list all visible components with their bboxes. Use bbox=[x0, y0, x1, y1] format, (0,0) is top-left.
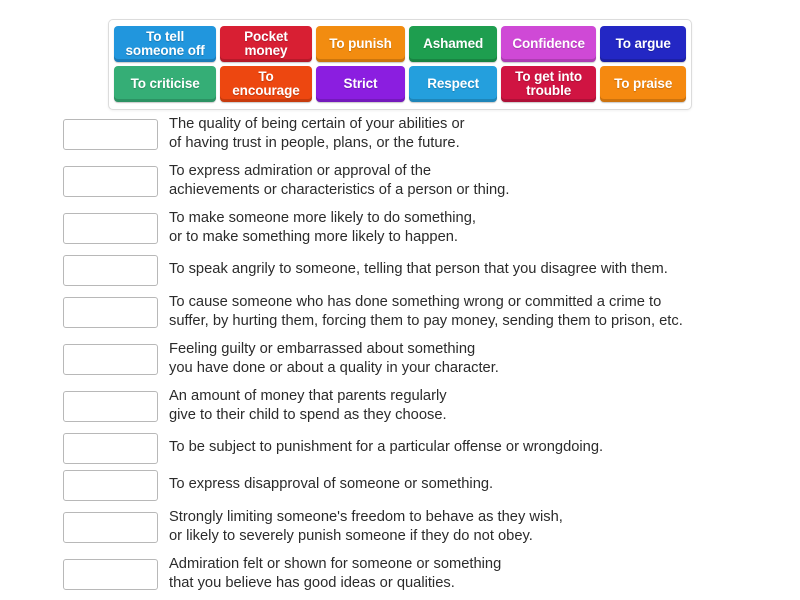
definition-row: An amount of money that parents regularl… bbox=[63, 385, 793, 427]
answer-drop-box[interactable] bbox=[63, 213, 158, 244]
word-tile-strict[interactable]: Strict bbox=[316, 66, 406, 102]
definition-text: To speak angrily to someone, telling tha… bbox=[169, 260, 793, 280]
word-tile-bank: To tell someone off Pocket money To puni… bbox=[108, 19, 692, 110]
answer-drop-box[interactable] bbox=[63, 344, 158, 375]
answer-drop-box[interactable] bbox=[63, 470, 158, 501]
definition-row: To express disapproval of someone or som… bbox=[63, 469, 793, 501]
definition-text: To make someone more likely to do someth… bbox=[169, 209, 793, 248]
definition-text: Feeling guilty or embarrassed about some… bbox=[169, 340, 793, 379]
tile-row-1: To tell someone off Pocket money To puni… bbox=[114, 26, 686, 62]
word-tile-to-criticise[interactable]: To criticise bbox=[114, 66, 216, 102]
word-tile-to-praise[interactable]: To praise bbox=[600, 66, 686, 102]
definition-row: Feeling guilty or embarrassed about some… bbox=[63, 338, 793, 380]
definition-text: The quality of being certain of your abi… bbox=[169, 115, 793, 154]
word-tile-pocket-money[interactable]: Pocket money bbox=[220, 26, 312, 62]
definition-text: An amount of money that parents regularl… bbox=[169, 387, 793, 426]
answer-drop-box[interactable] bbox=[63, 119, 158, 150]
word-tile-to-encourage[interactable]: To encourage bbox=[220, 66, 312, 102]
word-tile-to-get-into-trouble[interactable]: To get into trouble bbox=[501, 66, 596, 102]
definition-text: Admiration felt or shown for someone or … bbox=[169, 555, 793, 594]
definition-row: Strongly limiting someone's freedom to b… bbox=[63, 506, 793, 548]
answer-drop-box[interactable] bbox=[63, 559, 158, 590]
word-tile-to-tell-someone-off[interactable]: To tell someone off bbox=[114, 26, 216, 62]
word-tile-to-argue[interactable]: To argue bbox=[600, 26, 686, 62]
definition-row: To make someone more likely to do someth… bbox=[63, 207, 793, 249]
definition-text: To express admiration or approval of the… bbox=[169, 162, 793, 201]
definition-row: Admiration felt or shown for someone or … bbox=[63, 553, 793, 595]
answer-drop-box[interactable] bbox=[63, 255, 158, 286]
answer-drop-box[interactable] bbox=[63, 512, 158, 543]
definition-text: To express disapproval of someone or som… bbox=[169, 475, 793, 495]
definition-list: The quality of being certain of your abi… bbox=[63, 113, 793, 600]
answer-drop-box[interactable] bbox=[63, 297, 158, 328]
definition-text: Strongly limiting someone's freedom to b… bbox=[169, 508, 793, 547]
word-tile-ashamed[interactable]: Ashamed bbox=[409, 26, 497, 62]
definition-row: To be subject to punishment for a partic… bbox=[63, 432, 793, 464]
word-tile-confidence[interactable]: Confidence bbox=[501, 26, 596, 62]
definition-text: To be subject to punishment for a partic… bbox=[169, 438, 793, 458]
word-tile-respect[interactable]: Respect bbox=[409, 66, 497, 102]
answer-drop-box[interactable] bbox=[63, 166, 158, 197]
definition-text: To cause someone who has done something … bbox=[169, 293, 793, 332]
answer-drop-box[interactable] bbox=[63, 391, 158, 422]
definition-row: To speak angrily to someone, telling tha… bbox=[63, 254, 793, 286]
tile-row-2: To criticise To encourage Strict Respect… bbox=[114, 66, 686, 102]
definition-row: To express admiration or approval of the… bbox=[63, 160, 793, 202]
activity-canvas: To tell someone off Pocket money To puni… bbox=[0, 0, 800, 600]
definition-row: To cause someone who has done something … bbox=[63, 291, 793, 333]
answer-drop-box[interactable] bbox=[63, 433, 158, 464]
word-tile-to-punish[interactable]: To punish bbox=[316, 26, 406, 62]
definition-row: The quality of being certain of your abi… bbox=[63, 113, 793, 155]
